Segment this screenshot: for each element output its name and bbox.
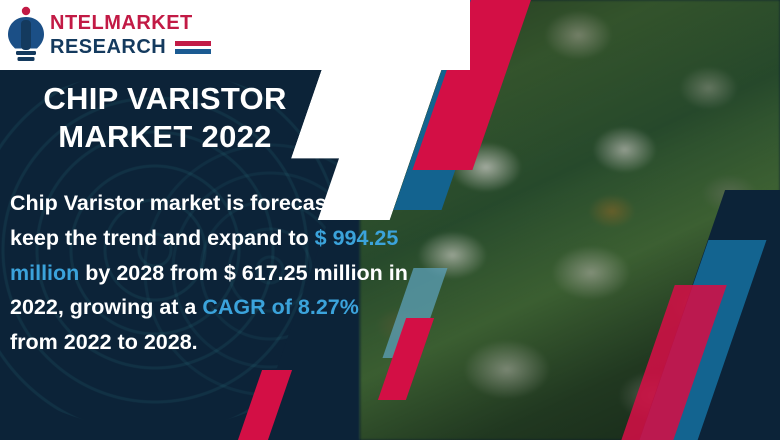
brand-wordmark: NTELMARKET RESEARCH	[50, 13, 211, 57]
lightbulb-icon	[4, 6, 48, 64]
marketing-banner: NTELMARKET RESEARCH CHIP VARISTOR MARKET…	[0, 0, 780, 440]
title-line-2: MARKET 2022	[0, 118, 330, 156]
brand-logo[interactable]: NTELMARKET RESEARCH	[4, 6, 211, 64]
page-title: CHIP VARISTOR MARKET 2022	[0, 80, 330, 156]
flag-bars-icon	[175, 41, 211, 54]
cagr-value: CAGR of 8.27%	[202, 295, 359, 319]
summary-segment-3: from 2022 to 2028.	[10, 330, 198, 354]
summary-text: Chip Varistor market is forecasted to ke…	[10, 186, 410, 360]
brand-name-line2: RESEARCH	[50, 37, 166, 57]
header-bar: NTELMARKET RESEARCH	[0, 0, 470, 70]
brand-name-line1: NTELMARKET	[50, 13, 211, 33]
title-line-1: CHIP VARISTOR	[0, 80, 330, 118]
